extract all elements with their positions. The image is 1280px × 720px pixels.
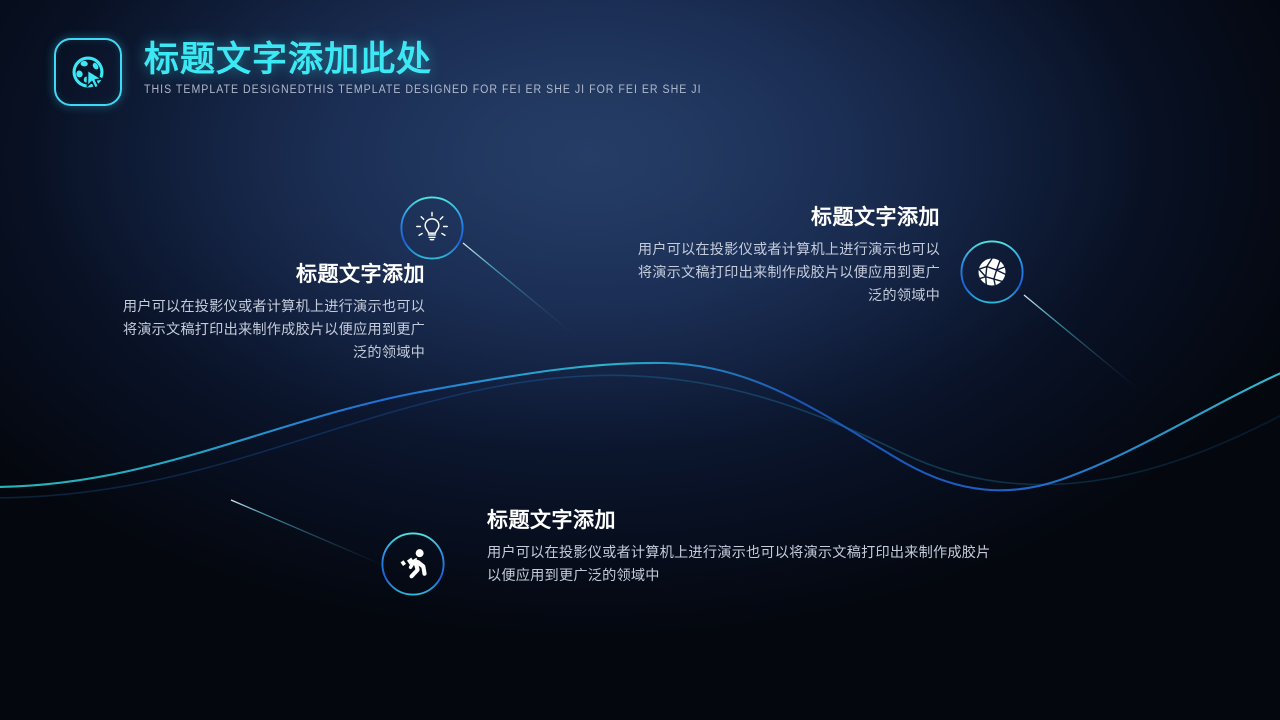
- slide-header: 标题文字添加此处 THIS TEMPLATE DESIGNEDTHIS TEMP…: [54, 38, 750, 106]
- globe-cursor-icon: [68, 52, 108, 92]
- block-title: 标题文字添加: [487, 508, 992, 534]
- block-body: 用户可以在投影仪或者计算机上进行演示也可以将演示文稿打印出来制作成胶片以便应用到…: [625, 239, 940, 308]
- background-wave-main: [0, 363, 1280, 490]
- presentation-slide: 标题文字添加此处 THIS TEMPLATE DESIGNEDTHIS TEMP…: [0, 0, 1280, 720]
- block-title: 标题文字添加: [625, 205, 940, 231]
- page-title: 标题文字添加此处: [144, 40, 750, 79]
- block-body: 用户可以在投影仪或者计算机上进行演示也可以将演示文稿打印出来制作成胶片以便应用到…: [487, 542, 992, 588]
- network-sphere-icon: [973, 253, 1011, 291]
- leader-line-2: [1024, 295, 1138, 389]
- content-block-2: 标题文字添加 用户可以在投影仪或者计算机上进行演示也可以将演示文稿打印出来制作成…: [625, 205, 940, 308]
- background-wave-secondary: [0, 375, 1280, 498]
- content-block-1: 标题文字添加 用户可以在投影仪或者计算机上进行演示也可以将演示文稿打印出来制作成…: [110, 262, 425, 365]
- content-block-3: 标题文字添加 用户可以在投影仪或者计算机上进行演示也可以将演示文稿打印出来制作成…: [487, 508, 992, 588]
- lightbulb-icon: [413, 209, 451, 247]
- running-person-icon: [394, 545, 432, 583]
- header-text-group: 标题文字添加此处 THIS TEMPLATE DESIGNEDTHIS TEMP…: [144, 38, 750, 96]
- icon-circle-running-person[interactable]: [381, 532, 445, 596]
- block-title: 标题文字添加: [110, 262, 425, 288]
- leader-line-1: [463, 243, 577, 337]
- block-body: 用户可以在投影仪或者计算机上进行演示也可以将演示文稿打印出来制作成胶片以便应用到…: [110, 296, 425, 365]
- page-subtitle: THIS TEMPLATE DESIGNEDTHIS TEMPLATE DESI…: [144, 84, 702, 96]
- header-logo: [54, 38, 122, 106]
- leader-line-3: [231, 500, 385, 566]
- icon-circle-lightbulb[interactable]: [400, 196, 464, 260]
- icon-circle-network-sphere[interactable]: [960, 240, 1024, 304]
